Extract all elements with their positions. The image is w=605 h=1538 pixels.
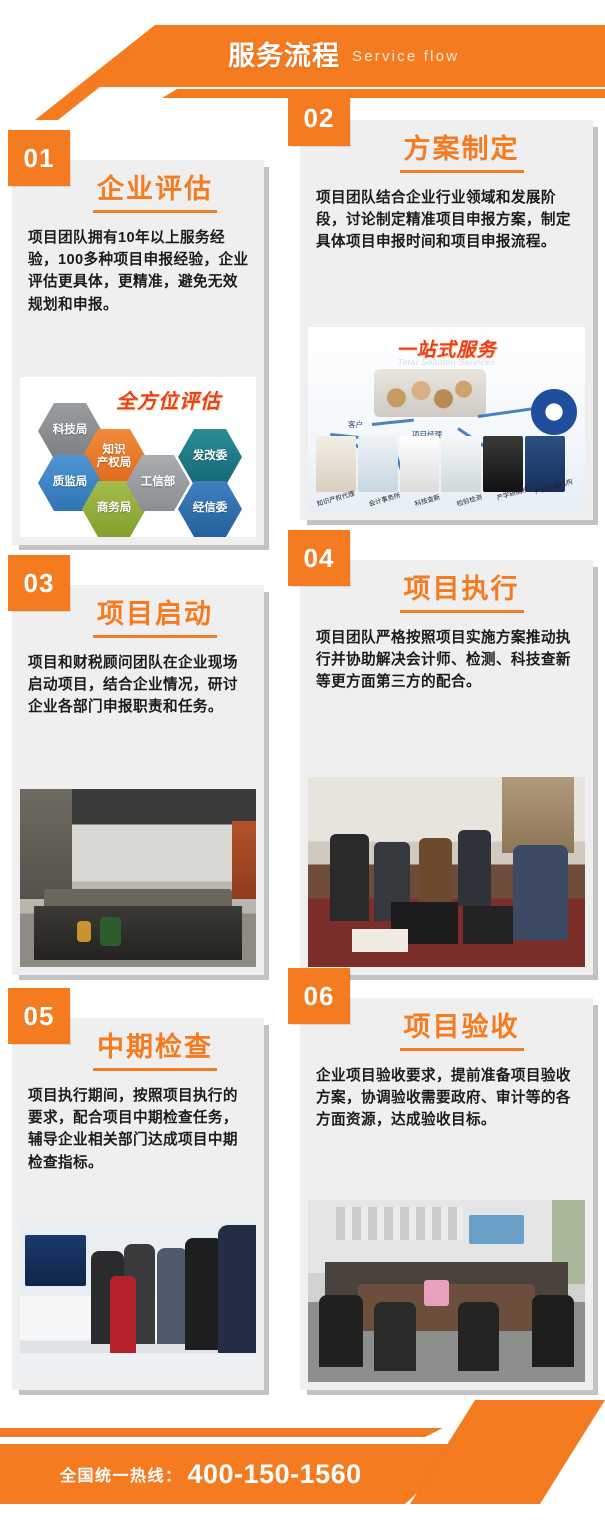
one-stop-caption-inspection: 检验检测 bbox=[455, 491, 483, 508]
card-title: 项目启动 bbox=[93, 599, 217, 638]
hexagon-node-fagaiwei: 发改委 bbox=[178, 429, 242, 485]
footer-hotline-group: 全国统一热线： 400-150-1560 bbox=[0, 1444, 470, 1504]
card-media-hexagon-diagram: 全方位评估 科技局 知识 产权局 质监局 商务局 工信部 发改委 经信委 bbox=[20, 377, 256, 537]
thumb-accounting bbox=[358, 436, 398, 492]
one-stop-caption-tech-search: 科技查新 bbox=[413, 491, 441, 508]
card-description: 项目团队结合企业行业领域和发展阶段，讨论制定精准项目申报方案，制定具体项目申报时… bbox=[300, 173, 593, 268]
card-title: 项目执行 bbox=[400, 574, 524, 613]
card-media-photo-site-inspection bbox=[20, 1222, 256, 1382]
one-stop-caption-accounting: 会计事务所 bbox=[367, 489, 401, 508]
card-description: 项目执行期间，按照项目执行的要求，配合项目中期检查任务，辅导企业相关部门达成项目… bbox=[12, 1071, 264, 1188]
process-card-05[interactable]: 05 中期检查 项目执行期间，按照项目执行的要求，配合项目中期检查任务，辅导企业… bbox=[12, 1018, 264, 1390]
process-card-02[interactable]: 02 方案制定 项目团队结合企业行业领域和发展阶段，讨论制定精准项目申报方案，制… bbox=[300, 120, 593, 520]
card-description: 项目团队拥有10年以上服务经验，100多种项目申报经验，企业评估更具体，更精准，… bbox=[12, 213, 264, 330]
process-card-04[interactable]: 04 项目执行 项目团队严格按照项目实施方案推动执行并协助解决会计师、检测、科技… bbox=[300, 560, 593, 975]
card-number-badge: 04 bbox=[288, 530, 350, 586]
thumb-university bbox=[483, 436, 523, 492]
page-footer: 全国统一热线： 400-150-1560 bbox=[0, 1400, 605, 1538]
photo-team-working-laptops bbox=[308, 777, 585, 967]
card-media-photo-team-working bbox=[308, 777, 585, 967]
process-card-06[interactable]: 06 项目验收 企业项目验收要求，提前准备项目验收方案，协调验收需要政府、审计等… bbox=[300, 998, 593, 1390]
process-card-01[interactable]: 01 企业评估 项目团队拥有10年以上服务经验，100多种项目申报经验，企业评估… bbox=[12, 160, 264, 545]
card-media-photo-kickoff-meeting bbox=[20, 789, 256, 967]
thumb-tech-search bbox=[400, 436, 440, 492]
card-number-badge: 01 bbox=[8, 130, 70, 186]
one-stop-bottom-thumbnails bbox=[316, 436, 565, 492]
thumb-ip-agency bbox=[316, 436, 356, 492]
hotline-number[interactable]: 400-150-1560 bbox=[188, 1459, 362, 1490]
page-subtitle: Service flow bbox=[352, 48, 459, 65]
photo-site-inspection-visit bbox=[20, 1222, 256, 1382]
card-number-badge: 03 bbox=[8, 555, 70, 611]
card-number-badge: 06 bbox=[288, 968, 350, 1024]
page-title: 服务流程 bbox=[228, 43, 340, 70]
header-title-group: 服务流程 Service flow bbox=[0, 25, 605, 87]
process-card-03[interactable]: 03 项目启动 项目和财税顾问团队在企业现场启动项目，结合企业情况，研讨企业各部… bbox=[12, 585, 264, 975]
card-number-badge: 02 bbox=[288, 90, 350, 146]
photo-kickoff-meeting-room bbox=[20, 789, 256, 967]
iso-seal-icon: ISO bbox=[531, 389, 577, 435]
card-title: 项目验收 bbox=[400, 1012, 524, 1051]
one-stop-label-customer: 客户 bbox=[348, 419, 363, 430]
thumb-inspection bbox=[441, 436, 481, 492]
hotline-label: 全国统一热线： bbox=[60, 1462, 183, 1486]
hexagon-node-jingxinwei: 经信委 bbox=[178, 481, 242, 537]
card-number-badge: 05 bbox=[8, 988, 70, 1044]
card-media-one-stop-diagram: 一站式服务 Total Solution Services 客户 项目经理 IS… bbox=[308, 327, 585, 512]
card-description: 项目和财税顾问团队在企业现场启动项目，结合企业情况，研讨企业各部门申报职责和任务… bbox=[12, 638, 264, 733]
card-title: 中期检查 bbox=[93, 1032, 217, 1071]
one-stop-subtitle: Total Solution Services bbox=[398, 357, 496, 367]
card-description: 项目团队严格按照项目实施方案推动执行并协助解决会计师、检测、科技查新等更方面第三… bbox=[300, 613, 593, 708]
photo-acceptance-conference bbox=[308, 1200, 585, 1382]
one-stop-center-photo bbox=[374, 369, 486, 417]
card-title: 方案制定 bbox=[400, 134, 524, 173]
card-media-photo-acceptance-conference bbox=[308, 1200, 585, 1382]
card-description: 企业项目验收要求，提前准备项目验收方案，协调验收需要政府、审计等的各方面资源，达… bbox=[300, 1051, 593, 1146]
card-title: 企业评估 bbox=[93, 174, 217, 213]
hexagon-diagram-title: 全方位评估 bbox=[116, 385, 221, 414]
